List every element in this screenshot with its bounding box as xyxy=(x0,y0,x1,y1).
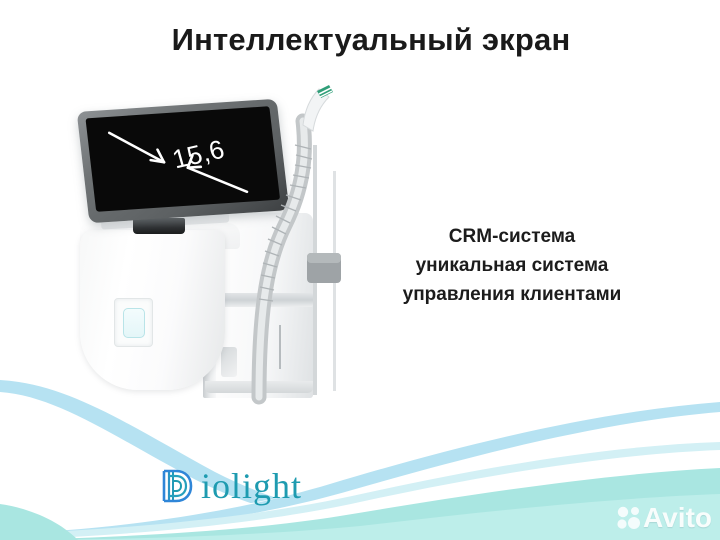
avito-logo-icon xyxy=(616,505,642,531)
feature-text-block: CRM-система уникальная система управлени… xyxy=(352,222,672,309)
machine-handle-notch xyxy=(221,347,237,377)
product-image: 15,6 xyxy=(55,85,385,405)
feature-line-1: CRM-система xyxy=(352,222,672,251)
feature-line-2: уникальная система xyxy=(352,251,672,280)
machine-power-button[interactable] xyxy=(114,298,153,347)
machine-power-button-indicator xyxy=(123,308,145,338)
logo-wordmark: iolight xyxy=(201,468,302,504)
feature-line-3: управления клиентами xyxy=(352,280,672,309)
brand-logo: iolight xyxy=(160,462,302,510)
page-title: Интеллектуальный экран xyxy=(0,22,720,58)
logo-d-icon xyxy=(160,468,194,504)
avito-watermark: Avito xyxy=(616,504,712,532)
wave-decoration xyxy=(0,380,720,540)
slide-canvas: Интеллектуальный экран xyxy=(0,0,720,540)
avito-wordmark: Avito xyxy=(643,504,712,532)
monitor-stand-neck xyxy=(133,218,185,234)
